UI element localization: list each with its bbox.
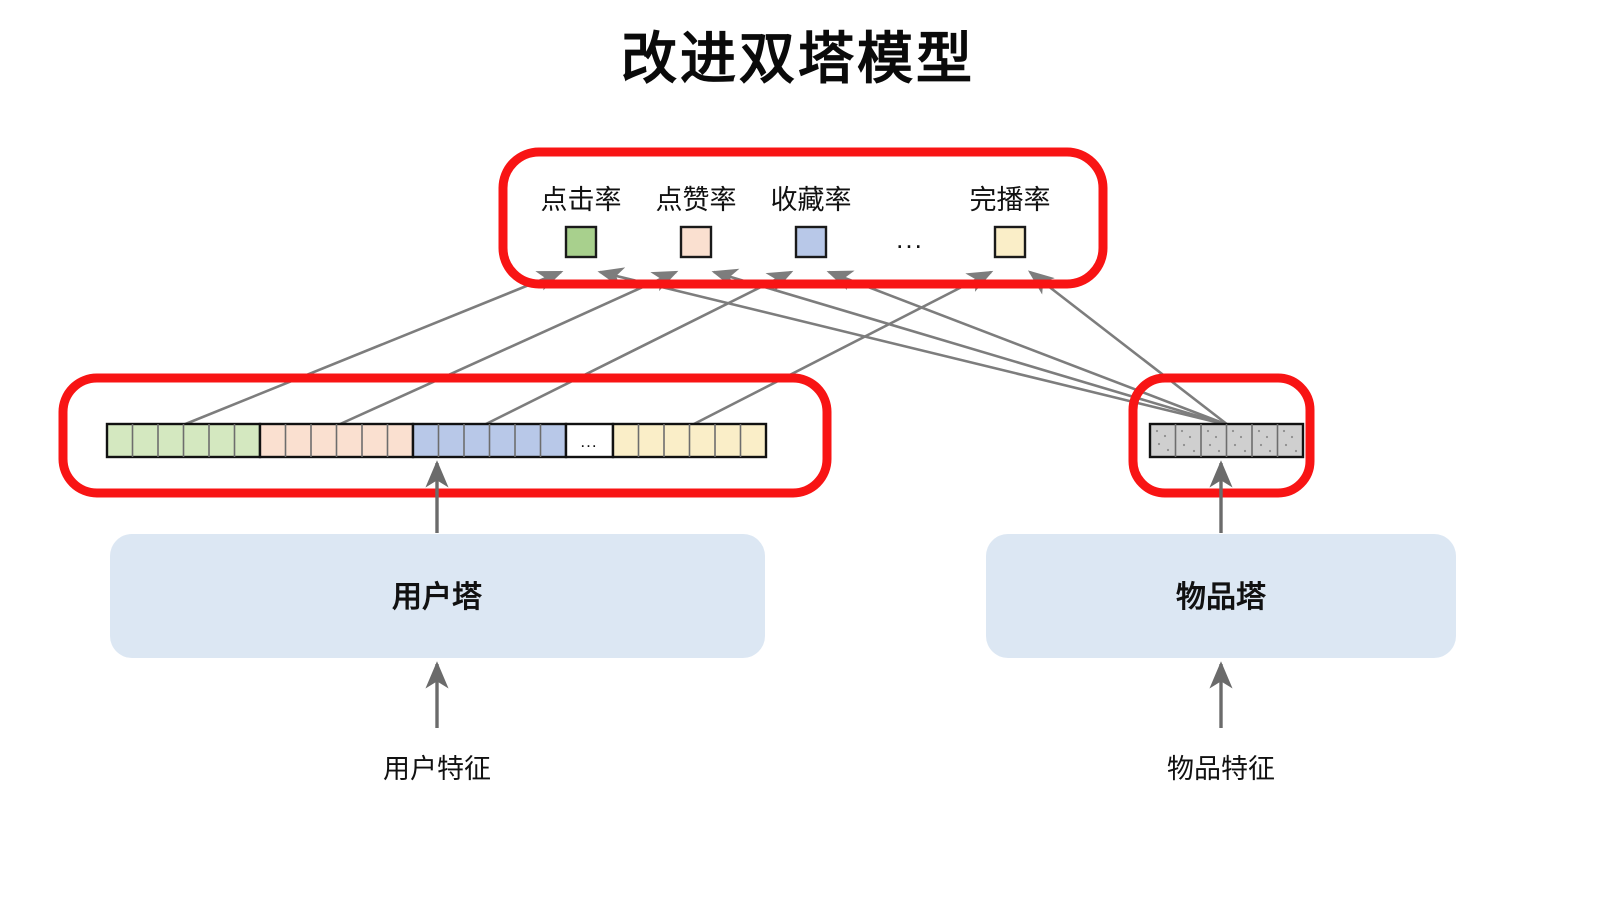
- output-label-like-rate: 点赞率: [656, 185, 737, 215]
- user-embedding-ellipsis-label: ...: [580, 432, 597, 451]
- output-head-finish-rate[interactable]: 完播率: [970, 185, 1051, 257]
- output-swatch-finish-rate: [995, 227, 1025, 257]
- user-features-label: 用户特征: [383, 754, 491, 784]
- output-head-favorite-rate[interactable]: 收藏率: [771, 185, 852, 257]
- output-head-click-rate[interactable]: 点击率: [541, 185, 622, 257]
- link-item-to-like-rate: [714, 272, 1228, 425]
- item-embedding-vector[interactable]: [1150, 424, 1303, 457]
- output-head-like-rate[interactable]: 点赞率: [656, 185, 737, 257]
- connection-lines: [183, 272, 1228, 425]
- diagram-canvas: 改进双塔模型 点击率 点赞率: [0, 0, 1597, 897]
- item-features-label: 物品特征: [1167, 754, 1275, 784]
- output-ellipsis: ...: [896, 224, 924, 254]
- user-tower-label: 用户塔: [392, 581, 483, 614]
- user-embedding-vector[interactable]: ...: [107, 424, 766, 457]
- item-tower-label: 物品塔: [1176, 581, 1267, 614]
- output-swatch-click-rate: [566, 227, 596, 257]
- page-title: 改进双塔模型: [621, 29, 975, 91]
- link-user-to-favorite-rate: [484, 272, 791, 425]
- link-user-to-finish-rate: [692, 272, 991, 425]
- output-swatch-like-rate: [681, 227, 711, 257]
- output-swatch-favorite-rate: [796, 227, 826, 257]
- prediction-outputs-highlight-box: [503, 152, 1103, 284]
- user-to-output-links: [183, 272, 991, 425]
- output-label-favorite-rate: 收藏率: [771, 185, 852, 215]
- link-item-to-favorite-rate: [829, 272, 1228, 425]
- output-label-finish-rate: 完播率: [970, 185, 1051, 215]
- output-label-click-rate: 点击率: [541, 185, 622, 215]
